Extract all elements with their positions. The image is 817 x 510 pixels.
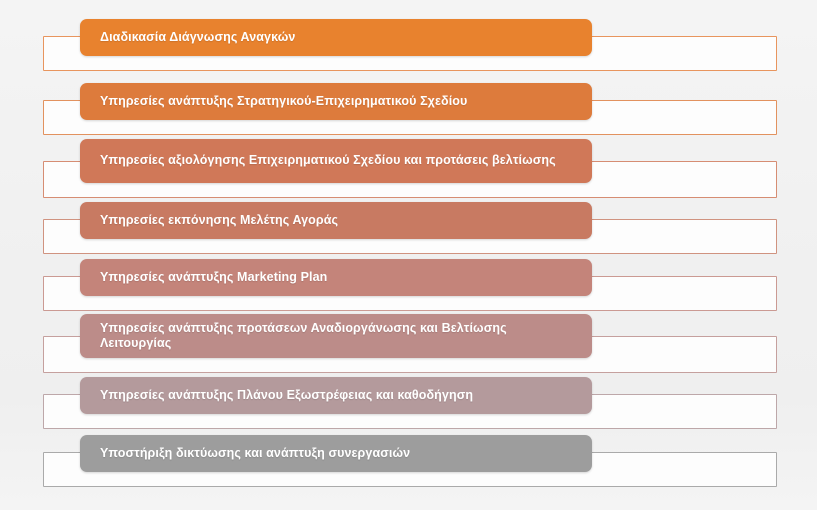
process-bar-label-5: Υπηρεσίες ανάπτυξης Marketing Plan xyxy=(80,270,341,286)
process-bar-label-4: Υπηρεσίες εκπόνησης Μελέτης Αγοράς xyxy=(80,213,352,229)
process-bar-7[interactable]: Υπηρεσίες ανάπτυξης Πλάνου Εξωστρέφειας … xyxy=(80,377,592,414)
process-bar-label-7: Υπηρεσίες ανάπτυξης Πλάνου Εξωστρέφειας … xyxy=(80,388,487,404)
process-bar-2[interactable]: Υπηρεσίες ανάπτυξης Στρατηγικού-Επιχειρη… xyxy=(80,83,592,120)
process-bar-label-3: Υπηρεσίες αξιολόγησης Επιχειρηματικού Σχ… xyxy=(80,153,570,169)
process-bar-8[interactable]: Υποστήριξη δικτύωσης και ανάπτυξη συνεργ… xyxy=(80,435,592,472)
process-bar-6[interactable]: Υπηρεσίες ανάπτυξης προτάσεων Αναδιοργάν… xyxy=(80,314,592,358)
process-bar-label-6: Υπηρεσίες ανάπτυξης προτάσεων Αναδιοργάν… xyxy=(80,321,592,352)
process-bar-3[interactable]: Υπηρεσίες αξιολόγησης Επιχειρηματικού Σχ… xyxy=(80,139,592,183)
process-bar-1[interactable]: Διαδικασία Διάγνωσης Αναγκών xyxy=(80,19,592,56)
process-bar-label-1: Διαδικασία Διάγνωσης Αναγκών xyxy=(80,30,309,46)
process-bar-5[interactable]: Υπηρεσίες ανάπτυξης Marketing Plan xyxy=(80,259,592,296)
process-bar-label-8: Υποστήριξη δικτύωσης και ανάπτυξη συνεργ… xyxy=(80,446,424,462)
process-bar-label-2: Υπηρεσίες ανάπτυξης Στρατηγικού-Επιχειρη… xyxy=(80,94,481,110)
process-bar-4[interactable]: Υπηρεσίες εκπόνησης Μελέτης Αγοράς xyxy=(80,202,592,239)
services-process-diagram: Διαδικασία Διάγνωσης ΑναγκώνΥπηρεσίες αν… xyxy=(0,0,817,510)
